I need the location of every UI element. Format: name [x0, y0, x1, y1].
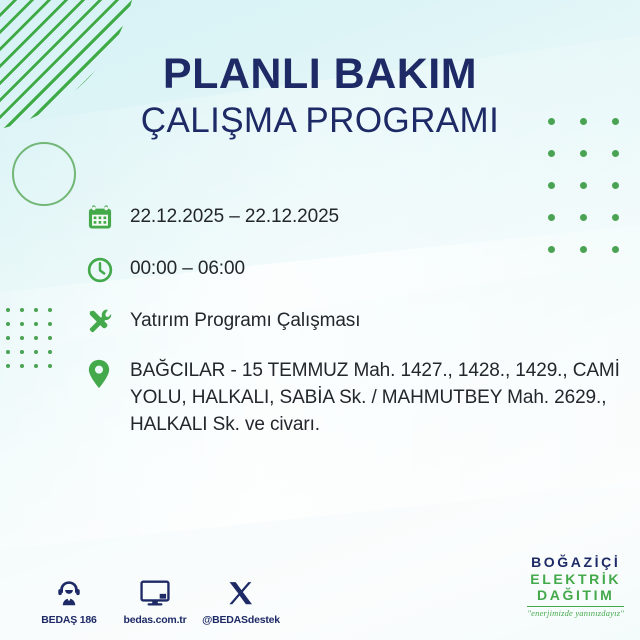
- detail-row-work-type: Yatırım Programı Çalışması: [86, 304, 626, 340]
- contact-channels: BEDAŞ 186 bedas.com.tr: [26, 574, 284, 626]
- decorative-dot: [34, 364, 38, 368]
- decorative-dot: [580, 150, 587, 157]
- decorative-dot: [20, 322, 24, 326]
- planned-maintenance-poster: PLANLI BAKIM ÇALIŞMA PROGRAMI: [0, 0, 640, 640]
- decorative-dot: [6, 350, 10, 354]
- decorative-dot: [34, 322, 38, 326]
- decorative-dot: [34, 308, 38, 312]
- x-twitter-icon: [198, 574, 284, 608]
- contact-social-x-label: @BEDASdestek: [198, 614, 284, 626]
- brand-line-elektrik: ELEKTRİK: [527, 571, 624, 588]
- dot-grid-left-decoration: [6, 308, 52, 368]
- brand-tagline: "enerjimizde yanınızdayız": [527, 606, 624, 618]
- page-subtitle: ÇALIŞMA PROGRAMI: [0, 101, 640, 141]
- decorative-dot: [548, 150, 555, 157]
- decorative-dot: [48, 308, 52, 312]
- decorative-dot: [20, 350, 24, 354]
- date-range-text: 22.12.2025 – 22.12.2025: [130, 200, 339, 231]
- brand-line-dagitim: DAĞITIM: [527, 587, 624, 604]
- headset-support-icon: [26, 574, 112, 608]
- location-pin-icon: [86, 356, 130, 392]
- poster-footer: BEDAŞ 186 bedas.com.tr: [0, 540, 640, 640]
- page-title: PLANLI BAKIM: [0, 52, 640, 97]
- brand-line-bogazici: BOĞAZİÇİ: [527, 554, 624, 571]
- decorative-dot: [48, 364, 52, 368]
- decorative-dot: [580, 182, 587, 189]
- maintenance-details: 22.12.2025 – 22.12.2025 00:00 – 06:00: [86, 200, 626, 439]
- decorative-dot: [612, 150, 619, 157]
- contact-website[interactable]: bedas.com.tr: [112, 574, 198, 626]
- circle-outline-decoration: [12, 142, 76, 206]
- calendar-icon: [86, 200, 130, 236]
- contact-phone-label: BEDAŞ 186: [26, 614, 112, 626]
- decorative-dot: [548, 182, 555, 189]
- contact-social-x[interactable]: @BEDASdestek: [198, 574, 284, 626]
- decorative-dot: [6, 364, 10, 368]
- brand-logo: BOĞAZİÇİ ELEKTRİK DAĞITIM "enerjimizde y…: [527, 554, 624, 618]
- decorative-dot: [6, 336, 10, 340]
- work-type-text: Yatırım Programı Çalışması: [130, 304, 360, 335]
- decorative-dot: [48, 350, 52, 354]
- tools-icon: [86, 304, 130, 340]
- decorative-dot: [6, 308, 10, 312]
- decorative-dot: [6, 322, 10, 326]
- contact-website-label: bedas.com.tr: [112, 614, 198, 626]
- decorative-dot: [612, 182, 619, 189]
- decorative-dot: [20, 336, 24, 340]
- detail-row-time: 00:00 – 06:00: [86, 252, 626, 288]
- affected-area-text: BAĞCILAR - 15 TEMMUZ Mah. 1427., 1428., …: [130, 356, 626, 439]
- decorative-dot: [20, 364, 24, 368]
- contact-phone[interactable]: BEDAŞ 186: [26, 574, 112, 626]
- decorative-dot: [48, 336, 52, 340]
- monitor-website-icon: [112, 574, 198, 608]
- decorative-dot: [48, 322, 52, 326]
- detail-row-address: BAĞCILAR - 15 TEMMUZ Mah. 1427., 1428., …: [86, 356, 626, 439]
- poster-header: PLANLI BAKIM ÇALIŞMA PROGRAMI: [0, 52, 640, 141]
- decorative-dot: [34, 350, 38, 354]
- clock-icon: [86, 252, 130, 288]
- decorative-dot: [34, 336, 38, 340]
- time-range-text: 00:00 – 06:00: [130, 252, 245, 283]
- detail-row-date: 22.12.2025 – 22.12.2025: [86, 200, 626, 236]
- decorative-dot: [20, 308, 24, 312]
